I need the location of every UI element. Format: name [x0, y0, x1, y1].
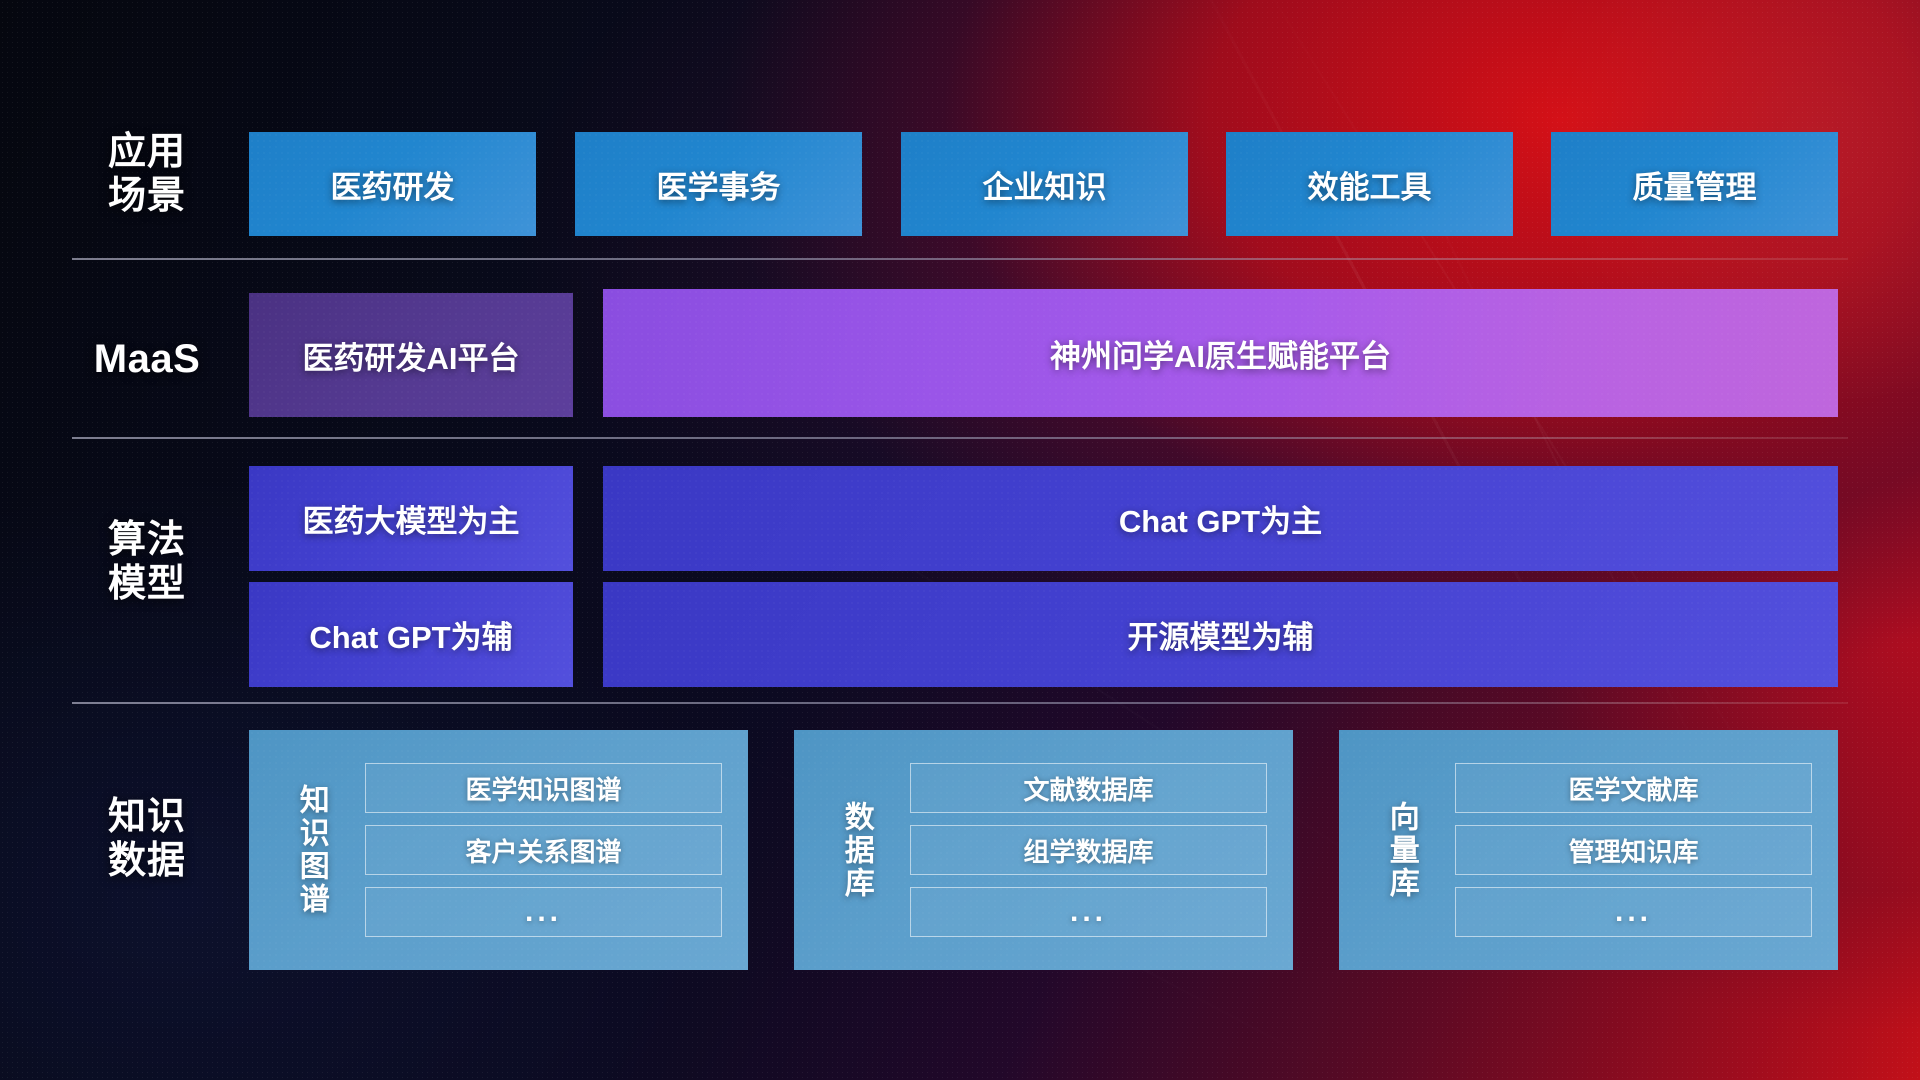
knowledge-card-2-items: 医学文献库 管理知识库 ... — [1439, 745, 1838, 955]
row-label-maas: MaaS — [72, 336, 222, 382]
maas-block-shenzhou-platform[interactable]: 神州问学AI原生赋能平台 — [603, 289, 1838, 417]
knowledge-card-0-title: 知识图谱 — [273, 784, 349, 916]
application-block-3-label: 效能工具 — [1308, 162, 1432, 207]
diagram-canvas: 应用 场景 医药研发 医学事务 企业知识 效能工具 质量管理 MaaS 医药研发… — [0, 0, 1920, 1080]
maas-block-medical-ai-platform[interactable]: 医药研发AI平台 — [249, 293, 573, 417]
row-label-knowledge-line2: 数据 — [72, 839, 222, 883]
maas-block-1-label: 神州问学AI原生赋能平台 — [1050, 331, 1391, 376]
algorithm-row1-right-label: 开源模型为辅 — [1128, 612, 1314, 657]
knowledge-card-1-item-0[interactable]: 文献数据库 — [910, 763, 1267, 813]
application-block-4[interactable]: 质量管理 — [1551, 132, 1838, 236]
row-label-application: 应用 场景 — [72, 130, 222, 218]
row-label-algorithm-line2: 模型 — [72, 562, 222, 606]
knowledge-card-1-item-1[interactable]: 组学数据库 — [910, 825, 1267, 875]
knowledge-card-2-item-2[interactable]: ... — [1455, 887, 1812, 937]
algorithm-block-row1-right[interactable]: 开源模型为辅 — [603, 582, 1838, 687]
algorithm-block-row1-left[interactable]: Chat GPT为辅 — [249, 582, 573, 687]
knowledge-card-1-item-2[interactable]: ... — [910, 887, 1267, 937]
maas-block-0-label: 医药研发AI平台 — [303, 333, 520, 378]
row-label-application-line2: 场景 — [72, 174, 222, 218]
knowledge-card-2[interactable]: 向量库 医学文献库 管理知识库 ... — [1339, 730, 1838, 970]
divider-algorithm-knowledge — [72, 702, 1848, 704]
knowledge-card-0-item-0[interactable]: 医学知识图谱 — [365, 763, 722, 813]
algorithm-row0-left-label: 医药大模型为主 — [303, 496, 520, 541]
application-block-1-label: 医学事务 — [657, 162, 781, 207]
row-label-algorithm: 算法 模型 — [72, 518, 222, 606]
knowledge-card-2-item-1[interactable]: 管理知识库 — [1455, 825, 1812, 875]
knowledge-card-0-item-2[interactable]: ... — [365, 887, 722, 937]
application-block-1[interactable]: 医学事务 — [575, 132, 862, 236]
knowledge-card-1-title: 数据库 — [818, 801, 894, 900]
knowledge-card-1-items: 文献数据库 组学数据库 ... — [894, 745, 1293, 955]
knowledge-card-2-title: 向量库 — [1363, 801, 1439, 900]
row-label-knowledge: 知识 数据 — [72, 795, 222, 883]
algorithm-row1-left-label: Chat GPT为辅 — [309, 612, 512, 657]
knowledge-card-2-item-0[interactable]: 医学文献库 — [1455, 763, 1812, 813]
application-block-2-label: 企业知识 — [983, 162, 1107, 207]
knowledge-card-0-item-1[interactable]: 客户关系图谱 — [365, 825, 722, 875]
row-label-knowledge-line1: 知识 — [72, 795, 222, 839]
application-block-4-label: 质量管理 — [1633, 162, 1757, 207]
algorithm-block-row0-left[interactable]: 医药大模型为主 — [249, 466, 573, 571]
knowledge-card-0-items: 医学知识图谱 客户关系图谱 ... — [349, 745, 748, 955]
application-block-0-label: 医药研发 — [331, 162, 455, 207]
knowledge-card-1[interactable]: 数据库 文献数据库 组学数据库 ... — [794, 730, 1293, 970]
divider-maas-algorithm — [72, 437, 1848, 439]
divider-application-maas — [72, 258, 1848, 260]
algorithm-block-row0-right[interactable]: Chat GPT为主 — [603, 466, 1838, 571]
row-label-application-line1: 应用 — [72, 130, 222, 174]
row-label-algorithm-line1: 算法 — [72, 518, 222, 562]
application-block-2[interactable]: 企业知识 — [901, 132, 1188, 236]
row-label-maas-text: MaaS — [72, 336, 222, 382]
knowledge-card-0[interactable]: 知识图谱 医学知识图谱 客户关系图谱 ... — [249, 730, 748, 970]
application-block-0[interactable]: 医药研发 — [249, 132, 536, 236]
application-block-3[interactable]: 效能工具 — [1226, 132, 1513, 236]
algorithm-row0-right-label: Chat GPT为主 — [1119, 496, 1322, 541]
